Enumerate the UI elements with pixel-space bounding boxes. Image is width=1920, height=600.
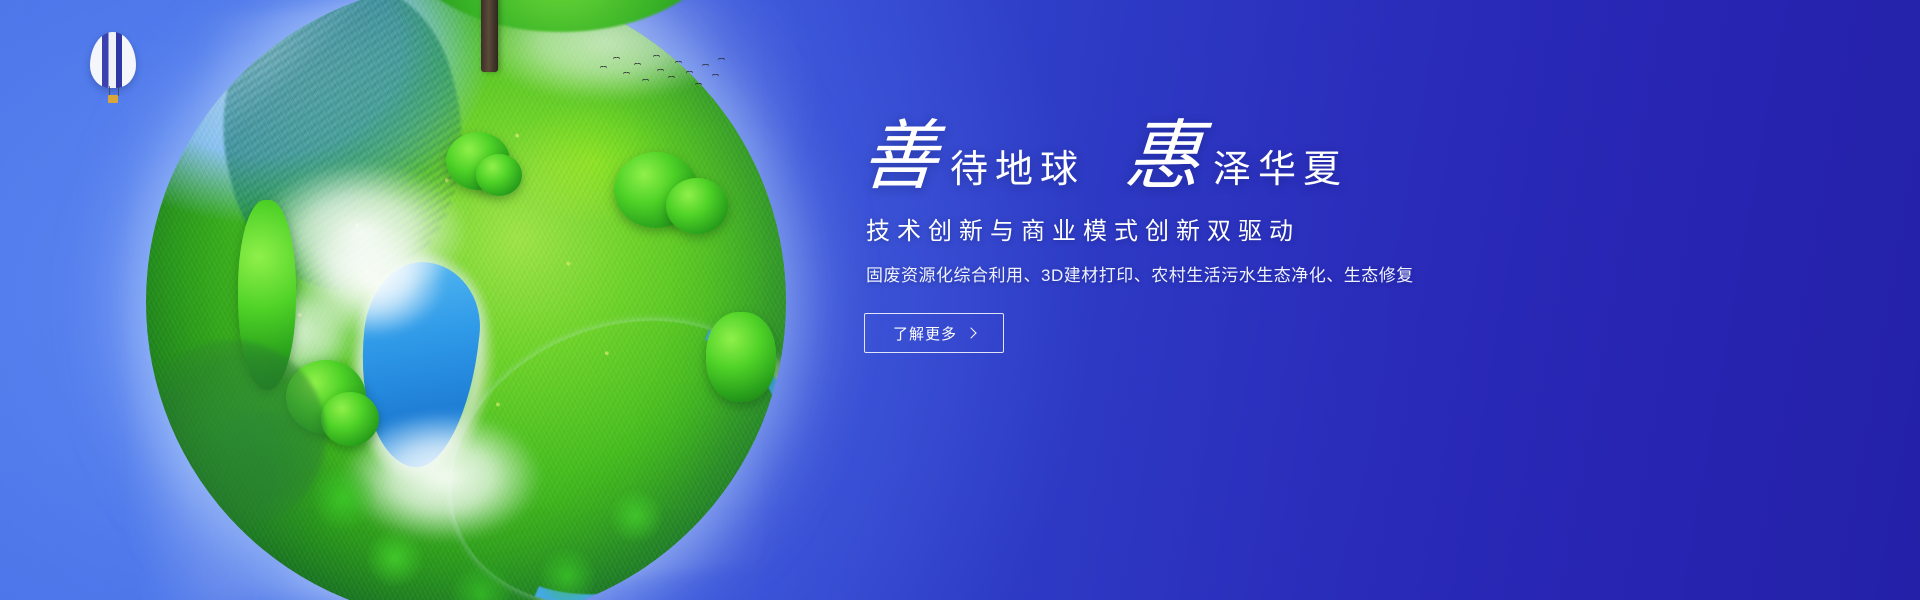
bird-icon [675, 61, 682, 65]
tree-canopy-decoration [476, 154, 522, 196]
bird-icon [642, 79, 649, 83]
bird-icon [623, 72, 630, 76]
learn-more-button[interactable]: 了解更多 [864, 313, 1004, 353]
headline-group-2: 惠 泽华夏 [1125, 120, 1348, 192]
hero-banner: 善 待地球 惠 泽华夏 技术创新与商业模式创新双驱动 固废资源化综合利用、3D建… [0, 0, 1920, 600]
page-title: 善 待地球 惠 泽华夏 [862, 120, 1622, 192]
bird-icon [600, 66, 607, 70]
tree-canopy-decoration [706, 312, 776, 402]
banner-description: 固废资源化综合利用、3D建材打印、农村生活污水生态净化、生态修复 [866, 265, 1622, 287]
banner-copy: 善 待地球 惠 泽华夏 技术创新与商业模式创新双驱动 固废资源化综合利用、3D建… [862, 120, 1622, 353]
bird-icon [668, 76, 675, 80]
silhouette-tree-decoration [186, 412, 336, 562]
bird-icon [657, 69, 664, 73]
bird-flock-icon [596, 52, 726, 94]
bird-icon [712, 74, 719, 78]
balloon-envelope [90, 32, 136, 88]
headline-rest-chars: 泽华夏 [1213, 150, 1348, 188]
balloon-basket [108, 95, 118, 103]
tree-canopy-decoration [666, 178, 728, 234]
bird-icon [686, 71, 693, 75]
foreground-tree-trunk-icon [481, 0, 498, 72]
headline-lead-char: 惠 [1122, 120, 1203, 192]
hot-air-balloon-icon [90, 32, 136, 106]
chevron-right-icon [965, 327, 976, 338]
bird-icon [653, 55, 660, 59]
bird-icon [702, 64, 709, 68]
headline-rest-chars: 待地球 [950, 150, 1085, 188]
banner-subtitle: 技术创新与商业模式创新双驱动 [866, 218, 1622, 247]
headline-lead-char: 善 [859, 120, 940, 192]
headline-group-1: 善 待地球 [862, 120, 1085, 192]
bird-icon [613, 57, 620, 61]
bird-icon [695, 83, 702, 87]
bird-icon [634, 63, 641, 67]
bird-icon [718, 58, 725, 62]
learn-more-label: 了解更多 [893, 323, 957, 344]
